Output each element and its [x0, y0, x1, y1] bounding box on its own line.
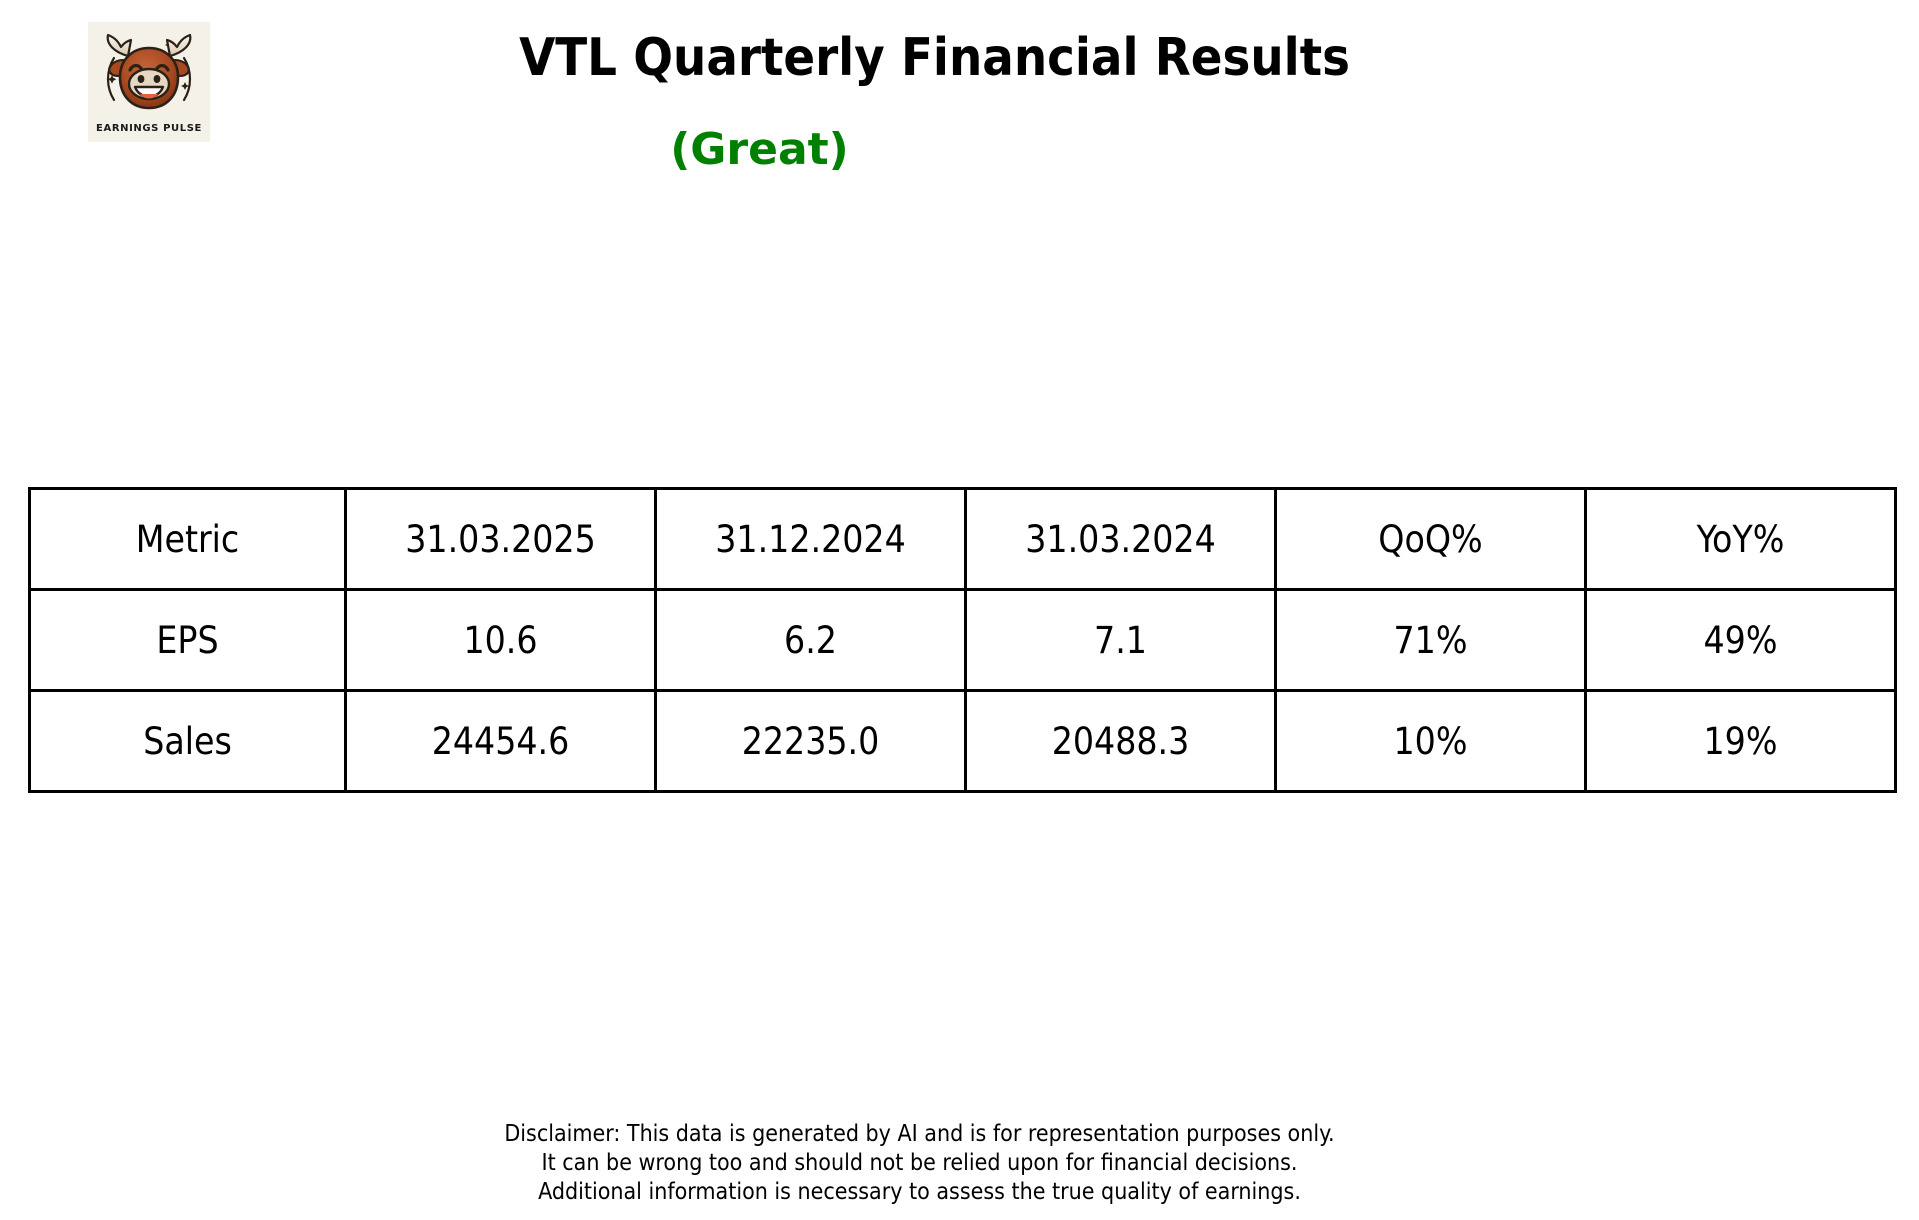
column-header-metric: Metric: [30, 489, 346, 590]
column-header-yoy: YoY%: [1586, 489, 1896, 590]
column-header-q1-2024: 31.03.2024: [966, 489, 1276, 590]
column-header-qoq: QoQ%: [1276, 489, 1586, 590]
cell-sales-qoq: 10%: [1276, 691, 1586, 792]
row-metric-label: Sales: [30, 691, 346, 792]
disclaimer-line-2: It can be wrong too and should not be re…: [0, 1149, 1879, 1178]
financial-results-table: Metric 31.03.2025 31.12.2024 31.03.2024 …: [28, 487, 1894, 792]
column-header-q1-2025: 31.03.2025: [346, 489, 656, 590]
row-metric-label: EPS: [30, 590, 346, 691]
cell-eps-2025-03-31: 10.6: [346, 590, 656, 691]
table-row: Sales 24454.6 22235.0 20488.3 10% 19%: [30, 691, 1896, 792]
disclaimer-line-1: Disclaimer: This data is generated by AI…: [0, 1120, 1879, 1149]
cell-sales-2025-03-31: 24454.6: [346, 691, 656, 792]
cell-sales-2024-03-31: 20488.3: [966, 691, 1276, 792]
cell-eps-2024-03-31: 7.1: [966, 590, 1276, 691]
cell-sales-2024-12-31: 22235.0: [656, 691, 966, 792]
cell-eps-qoq: 71%: [1276, 590, 1586, 691]
cell-eps-2024-12-31: 6.2: [656, 590, 966, 691]
disclaimer: Disclaimer: This data is generated by AI…: [0, 1120, 1879, 1207]
cell-sales-yoy: 19%: [1586, 691, 1896, 792]
table-header-row: Metric 31.03.2025 31.12.2024 31.03.2024 …: [30, 489, 1896, 590]
table-row: EPS 10.6 6.2 7.1 71% 49%: [30, 590, 1896, 691]
page-subtitle: (Great): [0, 124, 1719, 175]
disclaimer-line-3: Additional information is necessary to a…: [0, 1178, 1879, 1207]
cell-eps-yoy: 49%: [1586, 590, 1896, 691]
column-header-q4-2024: 31.12.2024: [656, 489, 966, 590]
page-title: VTL Quarterly Financial Results: [0, 28, 1894, 88]
